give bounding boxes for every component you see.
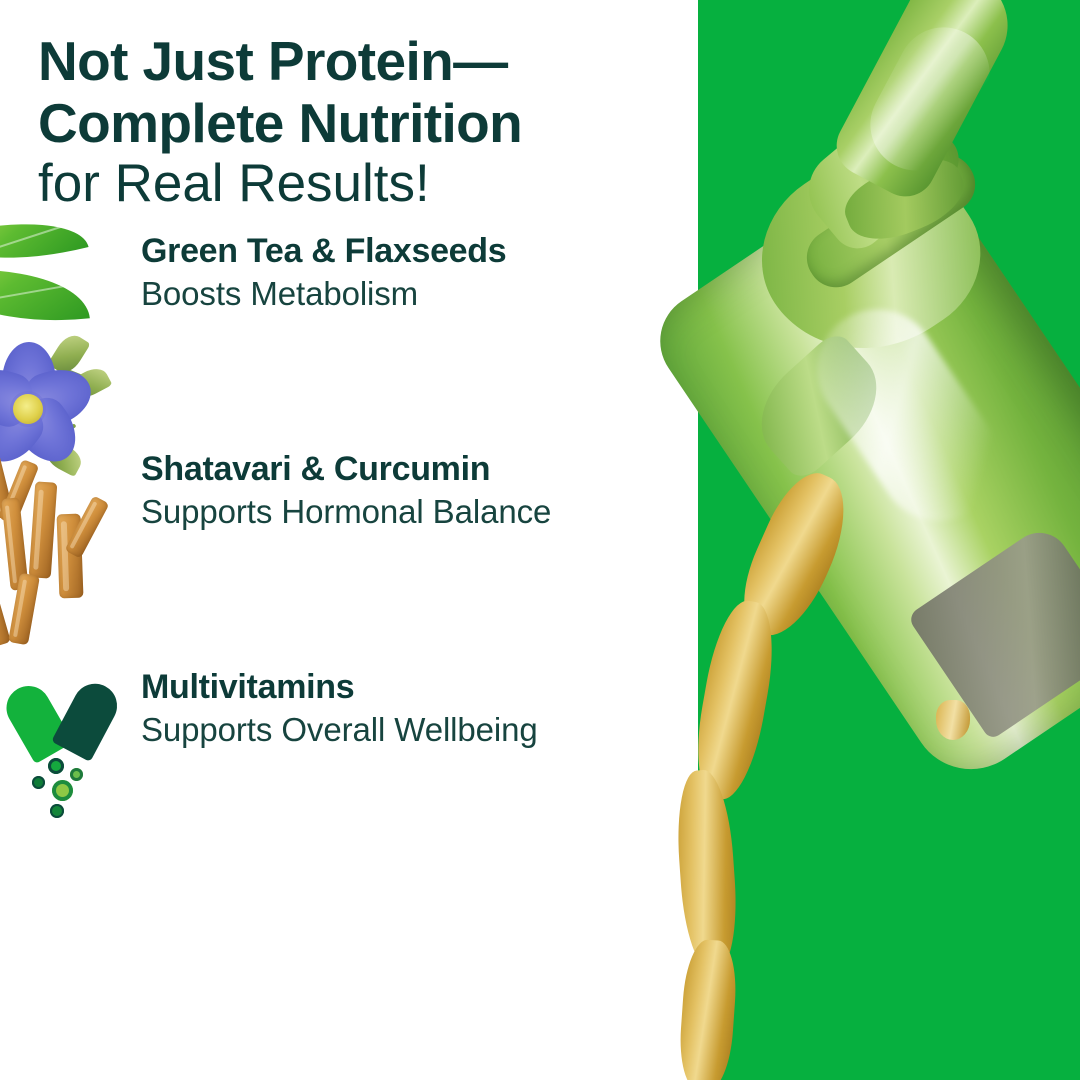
headline-line-3: for Real Results! xyxy=(38,154,658,214)
feature-subtitle: Supports Hormonal Balance xyxy=(141,490,551,534)
list-item: Multivitamins Supports Overall Wellbeing xyxy=(0,666,700,884)
headline-line-2: Complete Nutrition xyxy=(38,92,658,154)
green-tea-leaf-and-flax-flower-icon xyxy=(0,212,138,482)
list-item: Green Tea & Flaxseeds Boosts Metabolism xyxy=(0,230,700,448)
multivitamin-capsule-icon xyxy=(8,676,128,806)
granule-icon xyxy=(50,804,64,818)
shatavari-root-icon xyxy=(0,452,134,652)
liquid-drip xyxy=(936,700,970,740)
feature-text-block: Shatavari & Curcumin Supports Hormonal B… xyxy=(141,448,551,534)
granule-icon xyxy=(70,768,83,781)
headline-line-1: Not Just Protein— xyxy=(38,30,658,92)
feature-text-block: Multivitamins Supports Overall Wellbeing xyxy=(141,666,538,752)
liquid-pour-stream xyxy=(677,938,739,1080)
page-title: Not Just Protein— Complete Nutrition for… xyxy=(38,30,658,214)
granule-icon xyxy=(48,758,64,774)
list-item: Shatavari & Curcumin Supports Hormonal B… xyxy=(0,448,700,666)
feature-title: Multivitamins xyxy=(141,666,538,708)
granule-icon xyxy=(52,780,73,801)
capsule-half-dark-icon xyxy=(51,676,125,762)
feature-title: Shatavari & Curcumin xyxy=(141,448,551,490)
feature-list: Green Tea & Flaxseeds Boosts Metabolism xyxy=(0,230,700,884)
tea-leaf-icon xyxy=(0,257,90,334)
promo-banner: Not Just Protein— Complete Nutrition for… xyxy=(0,0,1080,1080)
feature-subtitle: Boosts Metabolism xyxy=(141,272,506,316)
granule-icon xyxy=(32,776,45,789)
product-bottle-image xyxy=(698,0,1080,1080)
feature-subtitle: Supports Overall Wellbeing xyxy=(141,708,538,752)
flower-center-icon xyxy=(13,394,43,424)
feature-text-block: Green Tea & Flaxseeds Boosts Metabolism xyxy=(141,230,506,316)
feature-title: Green Tea & Flaxseeds xyxy=(141,230,506,272)
root-stick-icon xyxy=(29,481,58,578)
